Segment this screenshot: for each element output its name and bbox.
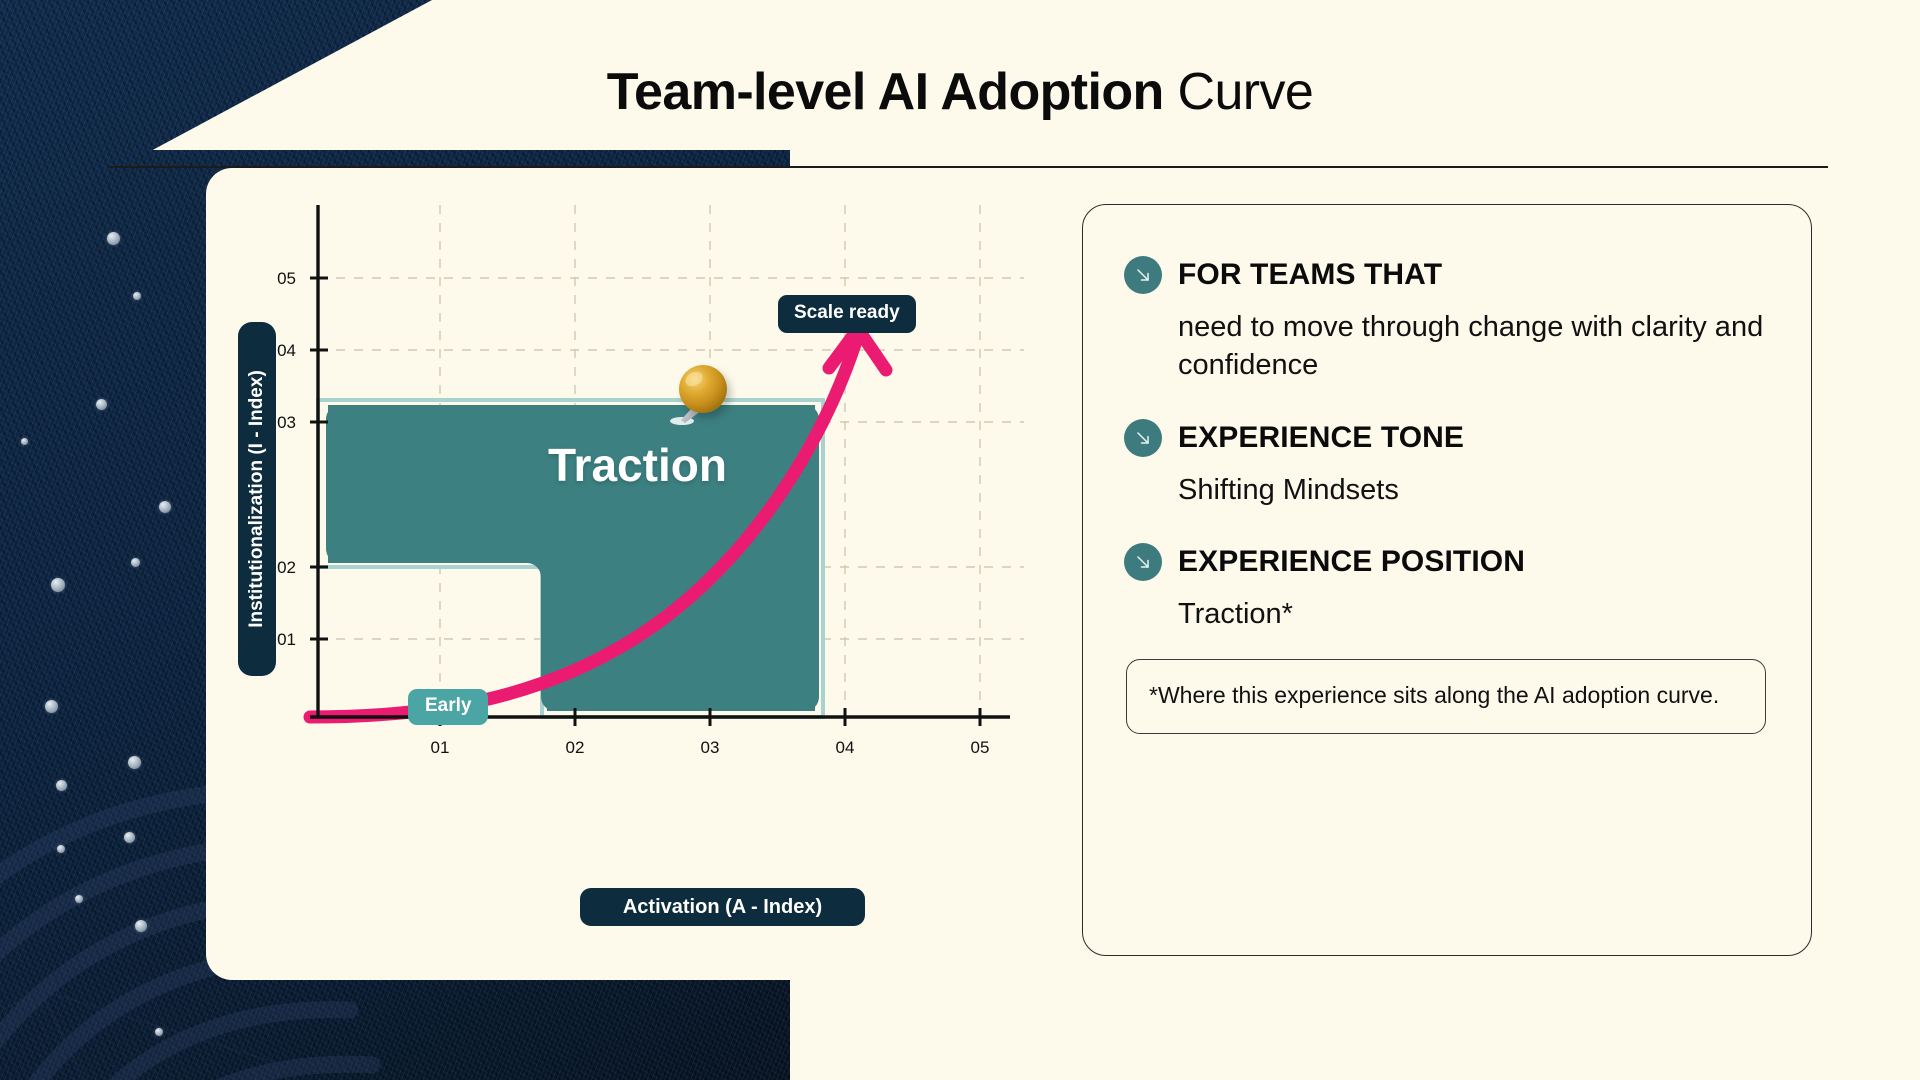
adoption-curve-plot: 05 04 03 02 01 01 02 03 04 05: [310, 205, 1030, 825]
info-panel: FOR TEAMS THAT need to move through chan…: [1082, 204, 1812, 956]
info-heading: EXPERIENCE POSITION: [1178, 545, 1525, 579]
svg-text:01: 01: [277, 630, 296, 649]
info-block-for-teams-that: FOR TEAMS THAT need to move through chan…: [1124, 256, 1766, 385]
svg-text:01: 01: [431, 738, 450, 757]
y-axis-label: Institutionalization (I - Index): [238, 322, 276, 676]
svg-text:05: 05: [971, 738, 990, 757]
early-badge: Early: [408, 689, 488, 725]
arrow-down-right-icon: [1124, 419, 1162, 457]
arrow-down-right-icon: [1124, 256, 1162, 294]
info-block-heading-row: FOR TEAMS THAT: [1124, 256, 1766, 294]
info-block-heading-row: EXPERIENCE TONE: [1124, 419, 1766, 457]
svg-text:02: 02: [566, 738, 585, 757]
slide-canvas: Team-level AI Adoption Curve: [0, 0, 1920, 1080]
svg-text:04: 04: [836, 738, 855, 757]
title-divider: [108, 166, 1828, 168]
svg-text:04: 04: [277, 341, 296, 360]
info-body: Shifting Mindsets: [1124, 471, 1766, 509]
x-tick-labels: 01 02 03 04 05: [431, 738, 990, 757]
arrow-down-right-icon: [1124, 543, 1162, 581]
traction-region-label: Traction: [548, 438, 727, 492]
page-title-strong: Team-level AI Adoption: [607, 63, 1164, 121]
info-heading: FOR TEAMS THAT: [1178, 258, 1442, 292]
info-heading: EXPERIENCE TONE: [1178, 421, 1464, 455]
info-body: need to move through change with clarity…: [1124, 308, 1766, 385]
info-block-experience-tone: EXPERIENCE TONE Shifting Mindsets: [1124, 419, 1766, 509]
page-title-light: Curve: [1164, 63, 1314, 121]
svg-text:03: 03: [701, 738, 720, 757]
svg-text:02: 02: [277, 558, 296, 577]
page-title: Team-level AI Adoption Curve: [0, 62, 1920, 122]
gold-pushpin-marker[interactable]: [660, 358, 734, 432]
info-block-heading-row: EXPERIENCE POSITION: [1124, 543, 1766, 581]
x-axis-label-text: Activation (A - Index): [623, 896, 822, 919]
scale-ready-badge: Scale ready: [778, 295, 916, 333]
x-axis-label: Activation (A - Index): [580, 888, 865, 926]
svg-text:03: 03: [277, 413, 296, 432]
footnote-box: *Where this experience sits along the AI…: [1126, 659, 1766, 734]
y-axis-label-text: Institutionalization (I - Index): [246, 370, 268, 628]
svg-text:05: 05: [277, 269, 296, 288]
info-block-experience-position: EXPERIENCE POSITION Traction*: [1124, 543, 1766, 633]
info-body: Traction*: [1124, 595, 1766, 633]
